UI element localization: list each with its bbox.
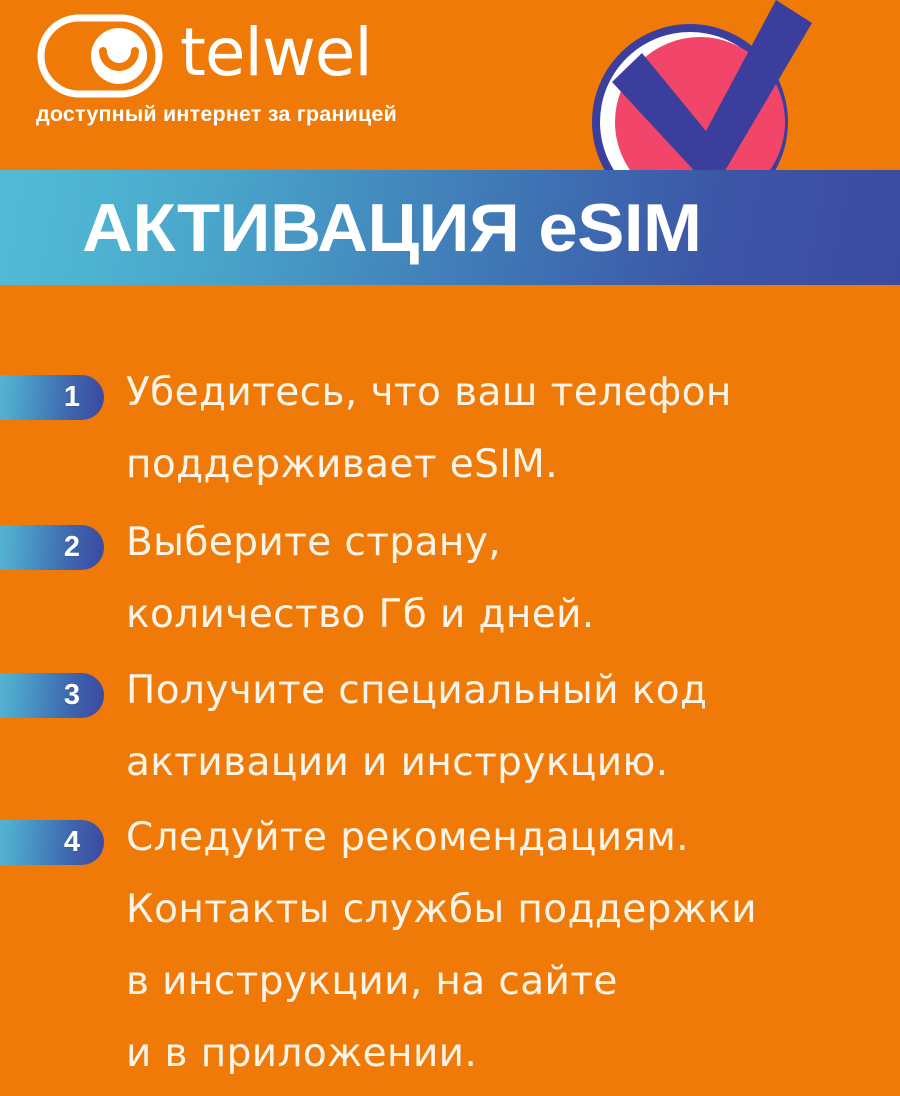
step-line: Следуйте рекомендациям. bbox=[126, 802, 886, 874]
step-line: и в приложении. bbox=[126, 1018, 886, 1090]
brand-tagline: доступный интернет за границей bbox=[36, 102, 466, 127]
step-line: Выберите страну, bbox=[126, 507, 886, 579]
step-line: количество Гб и дней. bbox=[126, 579, 886, 651]
step-text-2: Выберите страну, количество Гб и дней. bbox=[126, 507, 886, 651]
steps-list: 1 Убедитесь, что ваш телефон поддерживае… bbox=[0, 285, 900, 1096]
telwel-smile-mark-icon bbox=[36, 13, 164, 99]
step-line: Убедитесь, что ваш телефон bbox=[126, 357, 886, 429]
page-title: АКТИВАЦИЯ eSIM bbox=[82, 194, 701, 262]
step-number-2: 2 bbox=[64, 533, 80, 562]
step-number-badge-1: 1 bbox=[0, 375, 104, 420]
step-number-4: 4 bbox=[64, 828, 80, 857]
brand-wordmark: telwel bbox=[180, 20, 372, 86]
step-line: активации и инструкцию. bbox=[126, 727, 886, 799]
brand-lockup: telwel доступный интернет за границей bbox=[36, 8, 466, 127]
step-line: в инструкции, на сайте bbox=[126, 946, 886, 1018]
step-text-4: Следуйте рекомендациям. Контакты службы … bbox=[126, 802, 886, 1090]
step-number-3: 3 bbox=[64, 681, 80, 710]
step-line: поддерживает eSIM. bbox=[126, 429, 886, 501]
step-text-1: Убедитесь, что ваш телефон поддерживает … bbox=[126, 357, 886, 501]
step-number-badge-2: 2 bbox=[0, 525, 104, 570]
step-number-badge-4: 4 bbox=[0, 820, 104, 865]
step-number-badge-3: 3 bbox=[0, 673, 104, 718]
title-banner: АКТИВАЦИЯ eSIM bbox=[0, 170, 900, 285]
step-line: Получите специальный код bbox=[126, 655, 886, 727]
brand-row: telwel bbox=[36, 8, 466, 104]
step-number-1: 1 bbox=[64, 383, 80, 412]
poster-header: telwel доступный интернет за границей bbox=[0, 0, 900, 170]
step-line: Контакты службы поддержки bbox=[126, 874, 886, 946]
esim-activation-poster: telwel доступный интернет за границей АК… bbox=[0, 0, 900, 1096]
step-text-3: Получите специальный код активации и инс… bbox=[126, 655, 886, 799]
